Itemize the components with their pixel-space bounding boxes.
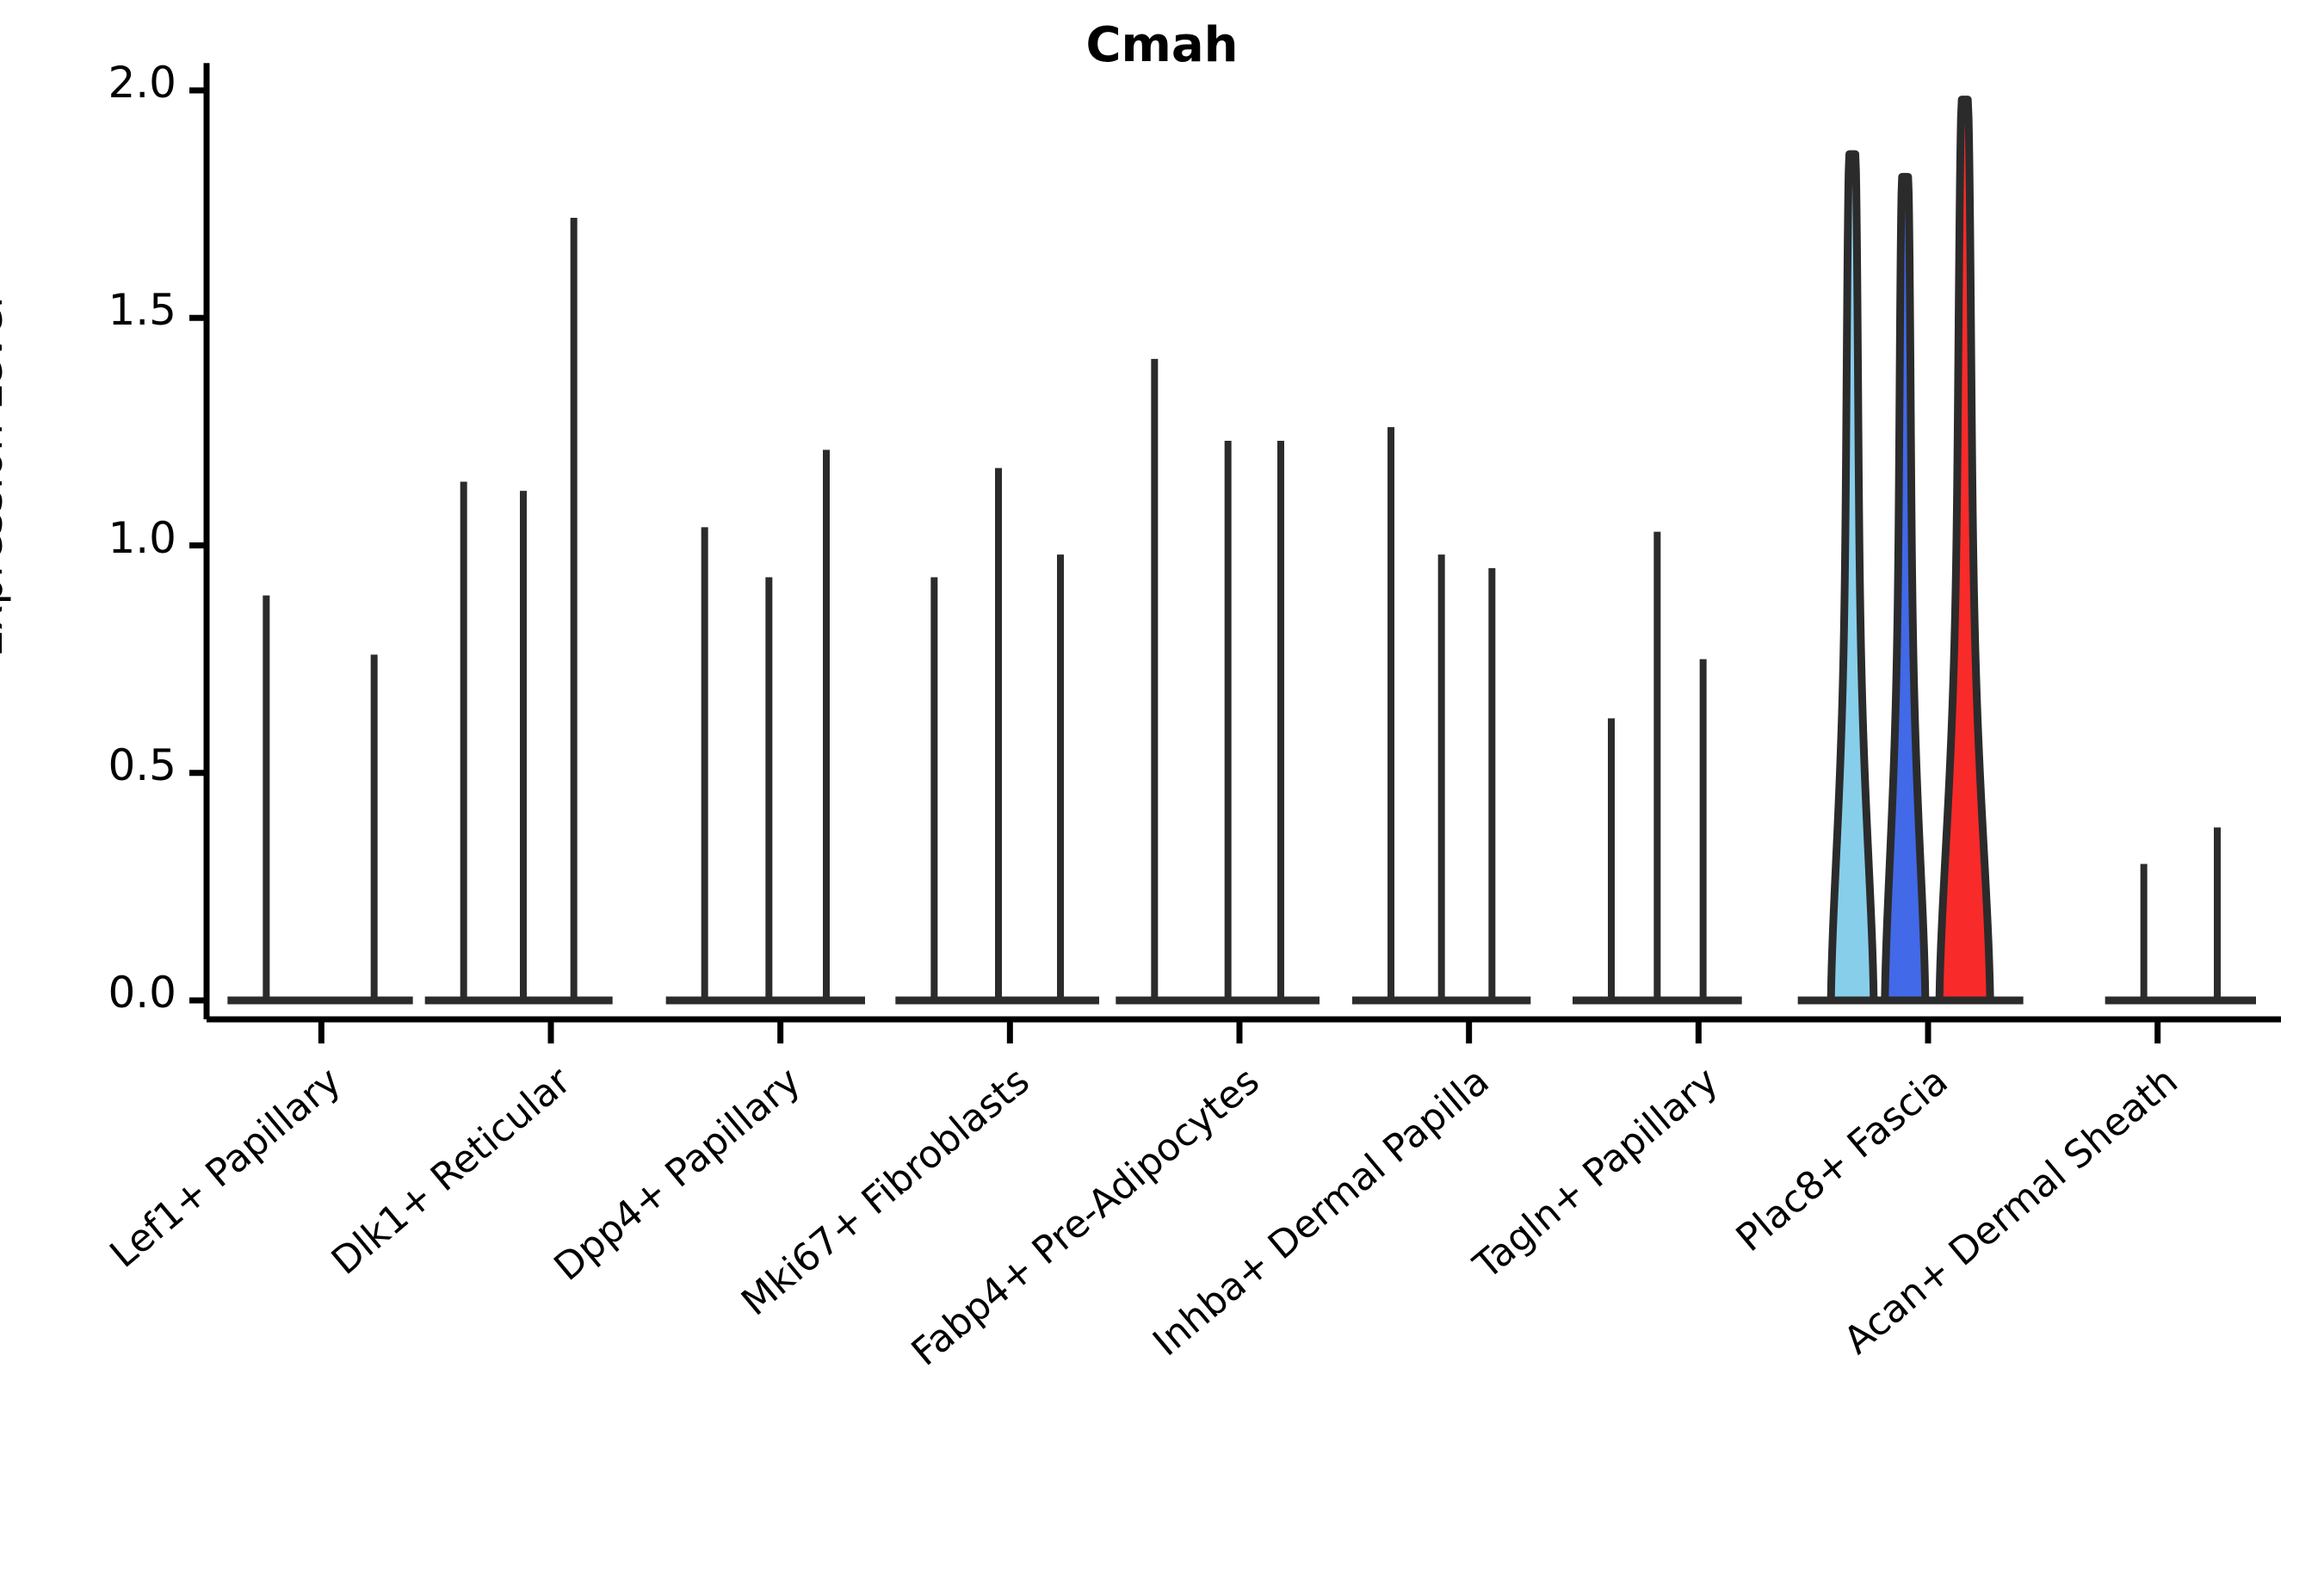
violin-layer xyxy=(227,100,2256,1000)
violin-group xyxy=(1573,532,1742,1000)
y-tick-label: 1.5 xyxy=(0,288,176,331)
violin-group xyxy=(1116,359,1320,1000)
violin-group xyxy=(895,468,1099,1000)
violin-group xyxy=(425,218,613,1000)
violin-group xyxy=(2105,827,2256,1000)
violin-group xyxy=(1352,427,1530,1000)
violin-group xyxy=(666,450,865,1000)
violin-plot-figure: Cmah Expression Level 0.00.51.01.52.0 Le… xyxy=(0,0,2324,1550)
violin-body xyxy=(1831,154,1874,1000)
violin-group xyxy=(227,596,412,1000)
violin-group xyxy=(1798,100,2024,1000)
violin-body xyxy=(1939,100,1990,1000)
y-tick-label: 2.0 xyxy=(0,61,176,104)
violin-body xyxy=(1885,176,1925,1000)
y-tick-label: 1.0 xyxy=(0,517,176,560)
y-tick-label: 0.0 xyxy=(0,971,176,1014)
y-tick-label: 0.5 xyxy=(0,744,176,787)
